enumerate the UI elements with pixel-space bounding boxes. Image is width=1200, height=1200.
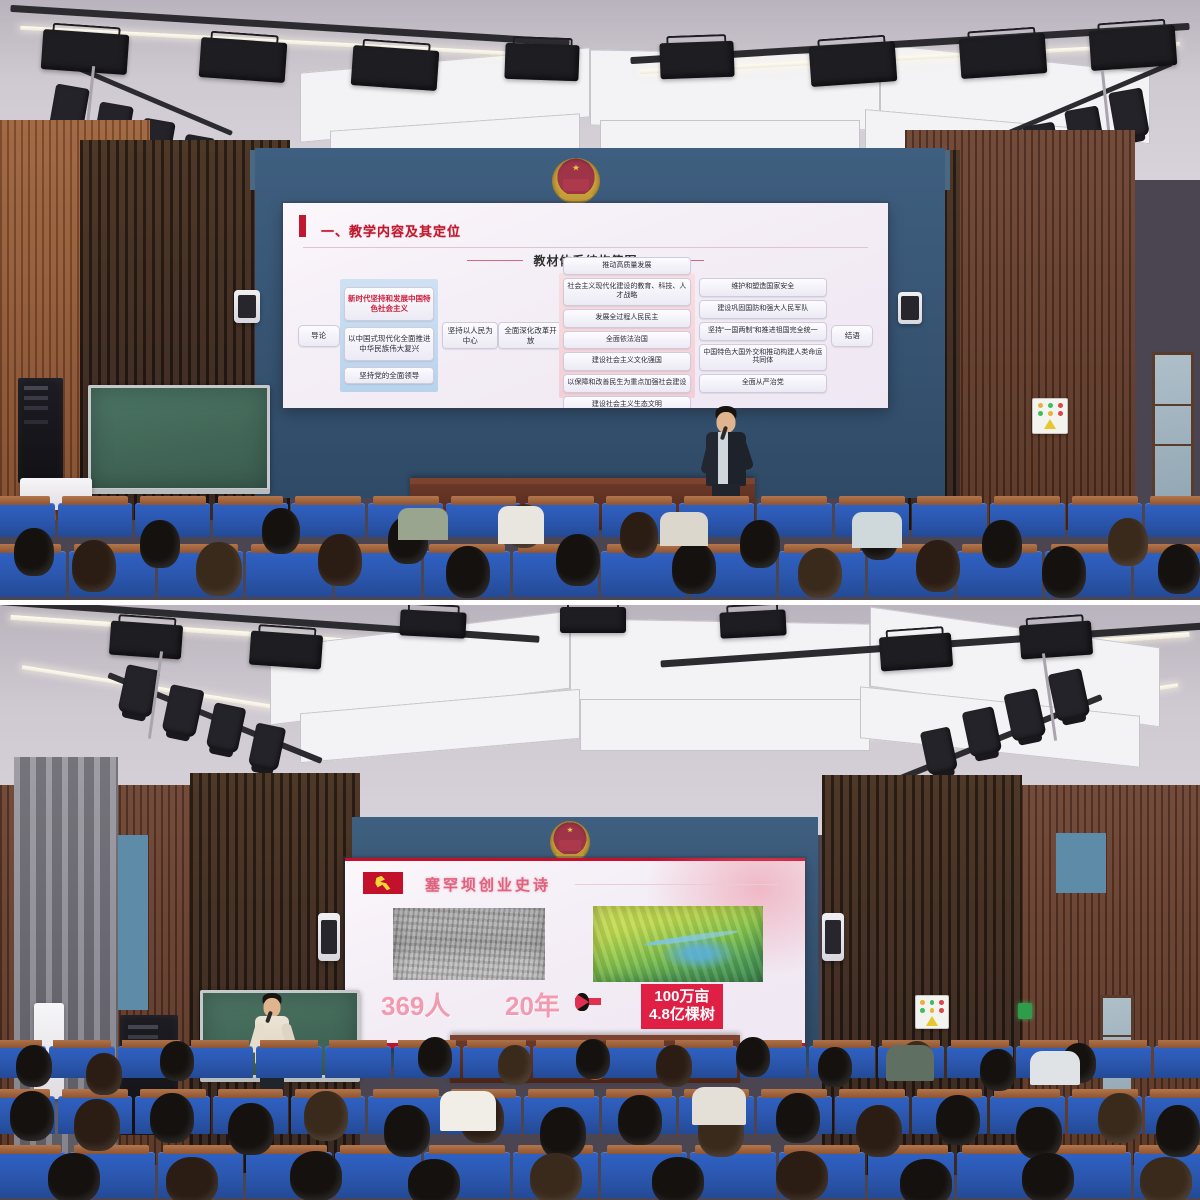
seat <box>1154 1046 1200 1078</box>
seat <box>912 503 987 537</box>
indicator-light <box>930 1008 935 1013</box>
result-highlight-box: 100万亩 4.8亿棵树 <box>641 984 723 1029</box>
seat <box>325 1046 391 1078</box>
audience-head <box>618 1095 662 1145</box>
indicator-light <box>1048 403 1053 408</box>
slide-image-historical <box>393 908 545 980</box>
indicator-light <box>1058 411 1063 416</box>
diagram-column-right: 维护和塑造国家安全 建设巩固国防和强大人民军队 坚持“一国两制”和推进祖国完全统… <box>695 271 831 400</box>
audience-head <box>14 528 54 576</box>
stage-light-parcan <box>249 631 323 670</box>
node-right-4: 全面从严治党 <box>699 374 827 393</box>
indicator-light <box>930 1000 935 1005</box>
node-blue-1: 坚持党的全面领导 <box>344 367 434 384</box>
node-pink-0: 推动高质量发展 <box>563 257 691 276</box>
room-top: 一、教学内容及其定位 教材体系结构简图 导论 新时代坚持和发展中国特色社会主义 … <box>0 0 1200 600</box>
national-emblem-icon <box>552 158 600 204</box>
node-conclusion: 结语 <box>831 325 873 347</box>
indicator-light <box>1038 403 1043 408</box>
indicator-row <box>1037 411 1063 416</box>
stage-light-parcan <box>41 29 130 75</box>
audience-head <box>290 1151 342 1200</box>
indicator-row <box>1037 403 1063 408</box>
node-right-2: 坚持“一国两制”和推进祖国完全统一 <box>699 322 827 341</box>
audience-head <box>818 1047 852 1087</box>
wall-speaker-right <box>898 292 922 324</box>
audience-head <box>1156 1105 1200 1157</box>
audience-head <box>304 1091 348 1141</box>
audience-torso <box>692 1087 746 1125</box>
result-line-2: 4.8亿棵树 <box>649 1006 715 1024</box>
audience-head <box>530 1153 582 1200</box>
indicator-light <box>1038 411 1043 416</box>
stat-years: 20年 <box>505 986 560 1023</box>
audience-torso <box>852 512 902 548</box>
seat <box>256 1046 322 1078</box>
audience-head <box>980 1049 1016 1091</box>
audience-head <box>1158 544 1200 594</box>
stage-light-parcan <box>1089 25 1178 71</box>
indicator-light <box>939 1008 944 1013</box>
audience-head <box>856 1105 902 1157</box>
audience-head <box>620 512 658 558</box>
diagram-column-intro: 导论 <box>297 271 340 400</box>
audience-head <box>1098 1093 1142 1143</box>
audience-head <box>48 1153 100 1200</box>
room-bottom: 塞罕坝创业史诗 369人 20年 100万亩 4.8亿棵树 <box>0 605 1200 1200</box>
stage-light-parcan <box>959 33 1048 79</box>
stage-light-parcan <box>719 609 786 638</box>
projection-screen-slide-2: 塞罕坝创业史诗 369人 20年 100万亩 4.8亿棵树 <box>345 858 805 1048</box>
arrow-head <box>575 993 589 1011</box>
diagram-column-mid-1: 坚持以人民为中心 <box>438 271 494 400</box>
audience-head <box>228 1103 274 1155</box>
seat <box>291 503 366 537</box>
structure-diagram: 导论 新时代坚持和发展中国特色社会主义 以中国式现代化全面推进中华民族伟大复兴 … <box>297 271 874 400</box>
stat-people: 369人 <box>381 986 450 1023</box>
stage-light-parcan <box>399 609 466 638</box>
audience-head <box>798 548 842 598</box>
equipment-rack <box>18 378 63 483</box>
indicator-light <box>920 1008 925 1013</box>
audience-torso <box>440 1091 496 1131</box>
collage-gap <box>0 600 1200 605</box>
node-pink-1: 社会主义现代化建设的教育、科技、人才战略 <box>563 278 691 306</box>
node-core-concept: 新时代坚持和发展中国特色社会主义 <box>344 287 434 321</box>
indicator-light <box>939 1000 944 1005</box>
audience-head <box>740 520 780 568</box>
seat-row <box>0 551 1200 597</box>
subtitle-rule-left <box>467 260 523 261</box>
national-emblem-icon <box>550 821 590 863</box>
stage-light-parcan <box>809 41 898 87</box>
lecture-hall-photo-top: 一、教学内容及其定位 教材体系结构简图 导论 新时代坚持和发展中国特色社会主义 … <box>0 0 1200 600</box>
audience-head <box>318 534 362 586</box>
party-emblem-badge <box>363 872 403 894</box>
indicator-light <box>1048 411 1053 416</box>
stage-light-parcan <box>659 41 734 80</box>
audience-head <box>736 1037 770 1077</box>
stage-light-parcan <box>351 45 440 91</box>
audience-torso <box>398 508 448 540</box>
audience-torso <box>660 512 708 546</box>
audience-head <box>916 540 960 592</box>
chalkboard <box>88 385 270 491</box>
audience-head <box>1022 1153 1074 1200</box>
stage-light-parcan <box>1019 621 1093 660</box>
audience-head <box>150 1093 194 1143</box>
wall-speaker-left <box>318 913 340 961</box>
audience-head <box>776 1093 820 1143</box>
lecture-hall-photo-bottom: 塞罕坝创业史诗 369人 20年 100万亩 4.8亿棵树 <box>0 605 1200 1200</box>
audience-torso <box>498 506 544 544</box>
exit-sign <box>1018 1003 1032 1019</box>
audience-head <box>936 1095 980 1145</box>
stage-light-parcan <box>560 607 626 633</box>
audience-head <box>86 1053 122 1095</box>
wall-speaker-right <box>822 913 844 961</box>
node-mid-0: 坚持以人民为中心 <box>442 322 498 349</box>
node-right-1: 建设巩固国防和强大人民军队 <box>699 300 827 319</box>
audience-head <box>166 1157 218 1200</box>
node-blue-0: 以中国式现代化全面推进中华民族伟大复兴 <box>344 327 434 361</box>
diagram-column-blue: 新时代坚持和发展中国特色社会主义 以中国式现代化全面推进中华民族伟大复兴 坚持党… <box>340 279 438 392</box>
audience-head <box>74 1099 120 1151</box>
audience-head <box>140 520 180 568</box>
right-arrow-icon <box>575 998 601 1005</box>
audience-torso <box>886 1045 934 1081</box>
warning-triangle-icon <box>926 1016 938 1026</box>
node-right-0: 维护和塑造国家安全 <box>699 278 827 297</box>
node-pink-5: 以保障和改善民生为重点加强社会建设 <box>563 374 691 393</box>
projection-screen-slide-1: 一、教学内容及其定位 教材体系结构简图 导论 新时代坚持和发展中国特色社会主义 … <box>283 203 888 408</box>
node-pink-2: 发展全过程人民民主 <box>563 309 691 328</box>
audience-head <box>1140 1157 1192 1200</box>
audience-head <box>672 542 716 594</box>
indicator-row <box>920 1000 944 1005</box>
slide-image-present <box>593 906 763 982</box>
stage-light-parcan <box>879 633 953 672</box>
title-rule <box>575 884 779 885</box>
hammer-sickle-icon <box>375 876 391 891</box>
audience-head <box>982 520 1022 568</box>
audience-head <box>418 1037 452 1077</box>
audience-head <box>262 508 300 554</box>
audience-head <box>540 1107 586 1159</box>
node-pink-4: 建设社会主义文化强国 <box>563 352 691 371</box>
audience-head <box>160 1041 194 1081</box>
node-pink-3: 全面依法治国 <box>563 331 691 350</box>
audience-head <box>900 1159 952 1200</box>
node-right-3: 中国特色大国外交和推动构建人类命运共同体 <box>699 344 827 372</box>
diagram-column-pink: 推动高质量发展 社会主义现代化建设的教育、科技、人才战略 发展全过程人民民主 全… <box>559 273 695 398</box>
diagram-column-end: 结语 <box>831 271 874 400</box>
photo-collage: 一、教学内容及其定位 教材体系结构简图 导论 新时代坚持和发展中国特色社会主义 … <box>0 0 1200 1200</box>
title-accent-bar <box>299 215 306 237</box>
wall-speaker-left <box>234 290 260 323</box>
audience-torso <box>1030 1051 1080 1085</box>
slide-title: 一、教学内容及其定位 <box>321 221 461 240</box>
audience-head <box>498 1045 532 1085</box>
audience-head <box>10 1091 54 1141</box>
indicator-light <box>1058 403 1063 408</box>
audience-head <box>576 1039 610 1079</box>
audience-head <box>1042 546 1086 598</box>
seat <box>58 503 133 537</box>
indicator-light <box>920 1000 925 1005</box>
audience-head <box>776 1151 828 1200</box>
audience-head <box>1108 518 1148 566</box>
audience-head <box>408 1159 460 1200</box>
audience-head <box>656 1045 692 1087</box>
slide-title: 塞罕坝创业史诗 <box>425 874 551 895</box>
stage-light-parcan <box>199 37 288 83</box>
audience-head <box>196 542 242 596</box>
audience-head <box>1016 1107 1062 1159</box>
warning-triangle-icon <box>1044 419 1056 429</box>
wall-accent-blue-right <box>1056 833 1106 893</box>
stage-light-parcan <box>504 43 579 82</box>
audience-head <box>384 1105 430 1157</box>
ceiling-panel <box>580 699 870 751</box>
seat <box>1145 503 1200 537</box>
diagram-column-mid-2: 全面深化改革开放 <box>494 271 559 400</box>
seat <box>187 1046 253 1078</box>
title-divider <box>303 247 868 248</box>
wall-control-panel <box>1032 398 1068 434</box>
audience-head <box>652 1157 704 1200</box>
node-mid-1: 全面深化改革开放 <box>498 322 563 349</box>
audience-head <box>556 534 600 586</box>
node-pink-6: 建设社会主义生态文明 <box>563 396 691 408</box>
audience-head <box>72 540 116 592</box>
node-intro: 导论 <box>298 325 340 347</box>
stage-light-parcan <box>109 621 183 660</box>
wall-control-panel <box>915 995 949 1029</box>
audience-head <box>446 546 490 598</box>
indicator-row <box>920 1008 944 1013</box>
audience-head <box>16 1045 52 1087</box>
result-line-1: 100万亩 <box>649 988 715 1006</box>
